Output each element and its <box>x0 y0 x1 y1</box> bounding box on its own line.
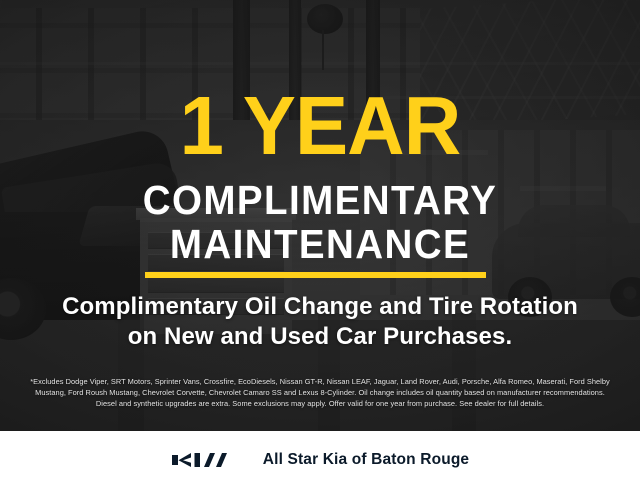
dealer-name: All Star Kia of Baton Rouge <box>263 451 469 469</box>
disclaimer-text: *Excludes Dodge Viper, SRT Motors, Sprin… <box>14 376 626 410</box>
banner-footer: All Star Kia of Baton Rouge <box>0 431 640 488</box>
promotional-banner: 1 YEAR COMPLIMENTARY MAINTENANCE Complim… <box>0 0 640 488</box>
disclaimer-line-3: Diesel and synthetic upgrades are extra.… <box>14 398 626 409</box>
offer-line-1: Complimentary Oil Change and Tire Rotati… <box>0 292 640 322</box>
yellow-divider-bar <box>145 272 486 278</box>
banner-content: 1 YEAR COMPLIMENTARY MAINTENANCE Complim… <box>0 0 640 431</box>
headline-year: 1 YEAR <box>13 84 627 167</box>
footer-brand-group: All Star Kia of Baton Rouge <box>171 449 469 471</box>
kia-logo-icon <box>171 449 241 471</box>
disclaimer-line-2: Mustang, Ford Roush Mustang, Chevrolet C… <box>14 387 626 398</box>
headline-complimentary: COMPLIMENTARY <box>19 180 621 221</box>
disclaimer-line-1: *Excludes Dodge Viper, SRT Motors, Sprin… <box>14 376 626 387</box>
headline-maintenance: MAINTENANCE <box>19 224 621 265</box>
offer-line-2: on New and Used Car Purchases. <box>0 322 640 352</box>
